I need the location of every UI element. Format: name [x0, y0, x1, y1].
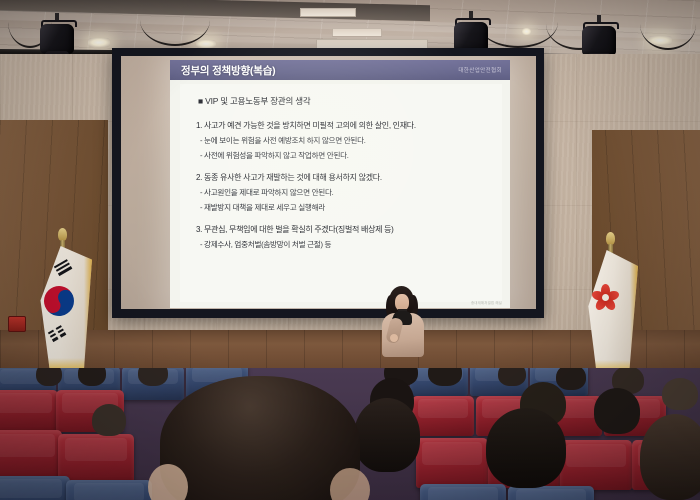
audience-head — [498, 368, 526, 386]
slide-block: 2. 동종 유사한 사고가 재발하는 것에 대해 용서하지 않겠다. - 사고원… — [192, 172, 492, 213]
slide-footer: 중대재해처벌법 해설 — [471, 300, 502, 305]
slide-title-bar: 정부의 정책방향(복습) 대한산업안전협회 — [170, 60, 510, 80]
audience-head — [556, 368, 586, 390]
slide-numbered-line: 2. 동종 유사한 사고가 재발하는 것에 대해 용서하지 않겠다. — [196, 172, 492, 183]
slide-sub-line: - 강제수사, 엄중처벌(솜방망이 처벌 근절) 등 — [200, 239, 492, 250]
fire-alarm-icon — [8, 316, 26, 332]
ceiling-light — [196, 40, 216, 48]
seat — [0, 390, 58, 432]
seat — [58, 434, 134, 484]
ceiling-light — [88, 38, 110, 47]
slide-sub-line: - 사고원인을 제대로 파악하지 않으면 안된다. — [200, 187, 492, 198]
audience-head — [354, 398, 420, 472]
slide-sub-line: - 눈에 보이는 위험을 사전 예방조치 하지 않으면 안된다. — [200, 135, 492, 146]
slide-heading: ■ VIP 및 고용노동부 장관의 생각 — [198, 95, 492, 107]
audience-head-foreground — [160, 376, 360, 500]
audience-ear — [330, 468, 370, 500]
presentation-slide: 정부의 정책방향(복습) 대한산업안전협회 ■ VIP 및 고용노동부 장관의 … — [170, 60, 510, 308]
slide-body: ■ VIP 및 고용노동부 장관의 생각 1. 사고가 예견 가능한 것을 방치… — [180, 84, 502, 302]
seat — [0, 476, 70, 500]
organization-emblem-icon — [592, 284, 618, 310]
seat — [0, 430, 62, 480]
presenter — [380, 286, 426, 356]
audience-head — [92, 404, 126, 436]
slide-block: 1. 사고가 예견 가능한 것을 방치하면 미필적 고의에 의한 살인, 인재다… — [192, 120, 492, 161]
audience-head — [486, 408, 566, 488]
ceiling-vent — [332, 28, 382, 37]
seat — [560, 440, 632, 490]
screen-surface: 정부의 정책방향(복습) 대한산업안전협회 ■ VIP 및 고용노동부 장관의 … — [121, 56, 536, 309]
slide-title: 정부의 정책방향(복습) — [170, 63, 275, 78]
audience-head — [138, 368, 168, 386]
seat — [420, 484, 506, 500]
slide-numbered-line: 1. 사고가 예견 가능한 것을 방치하면 미필적 고의에 의한 살인, 인재다… — [196, 120, 492, 131]
audience-head — [594, 388, 640, 434]
audience-head — [78, 368, 106, 386]
audience-seating — [0, 368, 700, 500]
seat — [508, 486, 594, 500]
slide-block: 3. 무관심, 무책임에 대한 벌을 확실히 주겠다(징벌적 배상제 등) - … — [192, 224, 492, 250]
audience-head — [36, 368, 62, 386]
seat — [412, 396, 474, 436]
slide-sub-line: - 재발방지 대책을 제대로 세우고 실행해라 — [200, 202, 492, 213]
seat — [66, 480, 152, 500]
organization-logo: 대한산업안전협회 — [458, 66, 510, 74]
seat — [416, 438, 488, 488]
audience-head — [640, 414, 700, 500]
audience-head — [662, 378, 698, 410]
ceiling-vent — [300, 8, 356, 17]
slide-numbered-line: 3. 무관심, 무책임에 대한 벌을 확실히 주겠다(징벌적 배상제 등) — [196, 224, 492, 235]
auditorium-scene: 정부의 정책방향(복습) 대한산업안전협회 ■ VIP 및 고용노동부 장관의 … — [0, 0, 700, 500]
slide-sub-line: - 사전에 위험성을 파악하지 않고 작업하면 안된다. — [200, 150, 492, 161]
projection-screen: 정부의 정책방향(복습) 대한산업안전협회 ■ VIP 및 고용노동부 장관의 … — [112, 48, 544, 318]
